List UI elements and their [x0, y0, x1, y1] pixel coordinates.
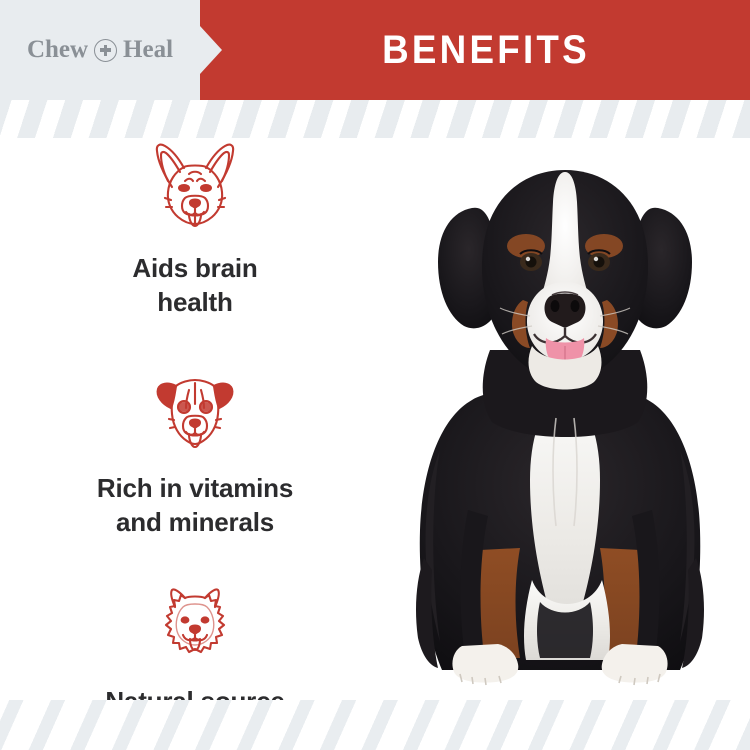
bottom-stripe-band — [0, 700, 750, 750]
benefit-item-brain-health: Aids brain health — [30, 140, 360, 320]
logo-word-heal: Heal — [123, 36, 173, 64]
logo-word-chew: Chew — [27, 36, 88, 64]
benefit-item-vitamins: Rich in vitamins and minerals — [30, 370, 360, 540]
bernese-mountain-dog-photo — [380, 150, 750, 695]
corgi-dog-face-icon — [141, 140, 249, 237]
infographic-page: Chew Heal BENEFITS — [0, 0, 750, 750]
terrier-dog-face-icon — [143, 370, 247, 457]
header-bar: Chew Heal BENEFITS — [0, 0, 750, 100]
benefit-label-brain-health: Aids brain health — [132, 251, 257, 320]
benefit-label-vitamins: Rich in vitamins and minerals — [97, 471, 293, 540]
plus-in-circle-icon — [94, 39, 117, 62]
samoyed-dog-face-icon — [145, 585, 245, 670]
page-title: BENEFITS — [243, 0, 729, 100]
benefit-line-1: Aids brain — [132, 251, 257, 285]
brand-logo: Chew Heal — [0, 0, 200, 100]
benefit-line-2: and minerals — [97, 505, 293, 539]
benefit-line-1: Rich in vitamins — [97, 471, 293, 505]
header-arrow-notch — [200, 26, 222, 74]
benefit-line-2: health — [132, 285, 257, 319]
top-stripe-band — [0, 100, 750, 138]
benefits-list: Aids brain health — [30, 140, 360, 685]
